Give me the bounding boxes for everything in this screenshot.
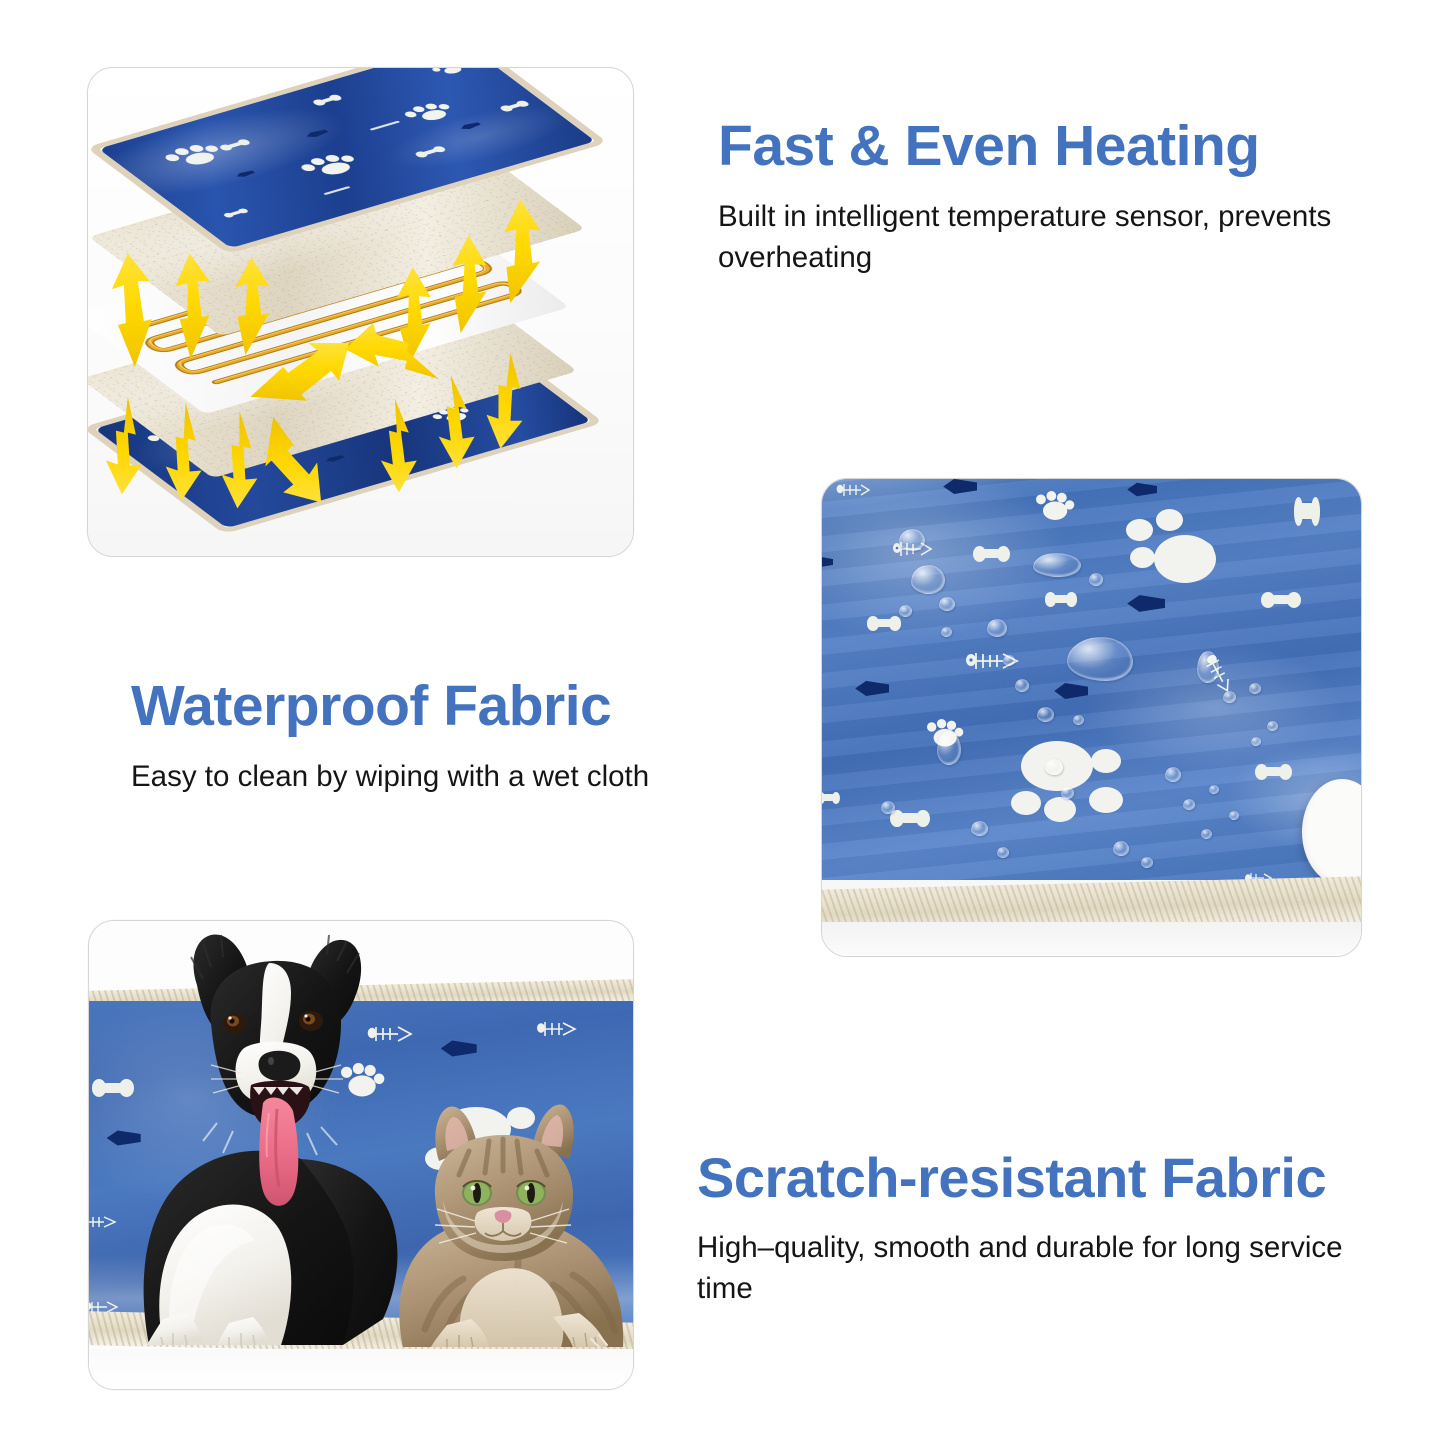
dog-tongue <box>259 1097 298 1205</box>
pets-on-mat-panel <box>88 920 634 1390</box>
water-droplet <box>899 529 925 551</box>
bone-icon <box>503 102 525 110</box>
water-droplet <box>1197 651 1219 683</box>
water-droplet <box>1067 637 1133 681</box>
fish-icon <box>303 128 330 139</box>
tabby-cat <box>385 1089 634 1347</box>
feature-block-fast-even-heating: Fast & Even Heating Built in intelligent… <box>718 118 1358 278</box>
feature-body: Built in intelligent temperature sensor,… <box>718 197 1338 278</box>
bone-icon <box>871 619 897 627</box>
feature-body: High–quality, smooth and durable for lon… <box>697 1228 1367 1309</box>
fish-icon <box>323 454 346 463</box>
feature-heading: Waterproof Fabric <box>131 678 791 735</box>
water-droplet <box>1033 553 1081 577</box>
fish-skeleton-icon <box>323 186 351 195</box>
feature-heading: Scratch-resistant Fabric <box>697 1150 1397 1206</box>
water-droplet <box>911 565 945 594</box>
bone-icon <box>821 794 837 801</box>
feature-block-scratch-resistant-fabric: Scratch-resistant Fabric High–quality, s… <box>697 1150 1397 1309</box>
panel-base-shadow <box>822 922 1361 956</box>
bone-icon <box>226 209 246 216</box>
bone-icon <box>977 549 1005 558</box>
feature-heading: Fast & Even Heating <box>718 118 1358 175</box>
panel-base-shadow <box>89 1349 633 1389</box>
bone-icon <box>316 96 338 104</box>
fish-icon <box>441 1039 477 1058</box>
fish-skeleton-icon <box>535 1017 577 1041</box>
feature-body: Easy to clean by wiping with a wet cloth <box>131 757 791 798</box>
fish-skeleton-icon <box>835 479 871 501</box>
bone-icon <box>418 147 442 156</box>
bone-icon <box>1049 595 1073 603</box>
waterproof-closeup-panel <box>821 478 1362 957</box>
waterproof-fabric-surface <box>821 478 1362 880</box>
bone-icon <box>1259 767 1287 776</box>
diagram-stage <box>88 68 633 556</box>
feature-block-waterproof-fabric: Waterproof Fabric Easy to clean by wipin… <box>131 678 791 798</box>
pets-stage <box>89 921 633 1389</box>
dog-nose <box>259 1051 301 1081</box>
bone-icon <box>895 813 925 823</box>
fish-icon <box>458 121 483 131</box>
bone-icon <box>1297 503 1317 519</box>
bone-icon <box>1266 595 1296 604</box>
waterproof-stage <box>822 479 1361 956</box>
water-droplet <box>937 731 961 765</box>
layered-construction-diagram-panel <box>87 67 634 557</box>
infographic-page: Fast & Even Heating Built in intelligent… <box>0 0 1445 1445</box>
